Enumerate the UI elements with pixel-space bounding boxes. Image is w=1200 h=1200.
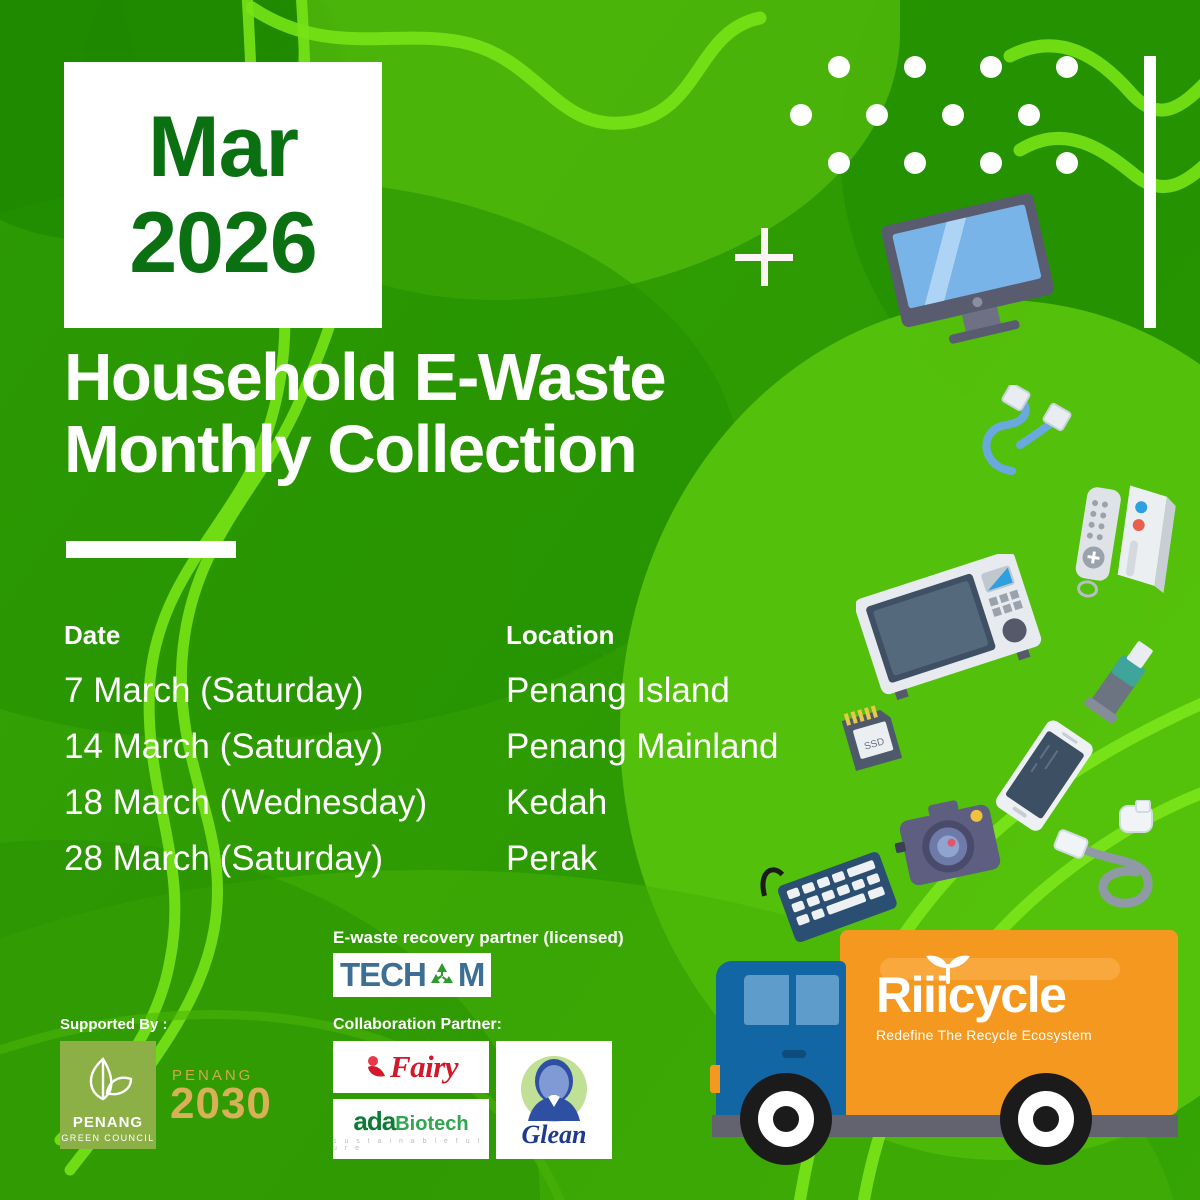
supported-by-caption: Supported By : — [60, 1016, 272, 1033]
techom-text-1: TECH — [340, 956, 426, 994]
cell-location: Kedah — [506, 783, 607, 823]
title-line-1: Household E-Waste — [64, 342, 904, 414]
usb-cable-icon — [958, 385, 1078, 485]
riiicycle-truck: Riiicycle Redefine The Recycle Ecosystem — [688, 925, 1188, 1195]
truck-window-left — [744, 975, 789, 1025]
table-row: 7 March (Saturday) Penang Island — [64, 671, 864, 711]
dot-grid — [782, 56, 1052, 176]
collaboration-block: Collaboration Partner: Fairy ada Biotech… — [333, 1016, 612, 1159]
title-line-2: Monthly Collection — [64, 414, 904, 486]
monitor-icon — [880, 190, 1060, 350]
fairy-text: Fairy — [390, 1049, 458, 1085]
cell-location: Penang Island — [506, 671, 730, 711]
penang-green-council-logo: PENANG GREEN COUNCIL — [60, 1041, 156, 1149]
table-row: 18 March (Wednesday) Kedah — [64, 783, 864, 823]
truck-branding: Riiicycle Redefine The Recycle Ecosystem — [876, 970, 1146, 1043]
recovery-partner-caption: E-waste recovery partner (licensed) — [333, 928, 624, 948]
ada-biotech-logo: ada Biotech s u s t a i n a b l e f u t … — [333, 1099, 489, 1159]
poster-canvas: SSD — [0, 0, 1200, 1200]
schedule-table: Date Location 7 March (Saturday) Penang … — [64, 620, 864, 895]
ada-tagline: s u s t a i n a b l e f u t u r e — [333, 1138, 489, 1152]
penang-2030-logo: PENANG 2030 — [170, 1067, 272, 1124]
p2030-line-2: 2030 — [170, 1084, 272, 1124]
camera-icon — [890, 790, 1010, 900]
page-title: Household E-Waste Monthly Collection — [64, 342, 904, 487]
table-row: 28 March (Saturday) Perak — [64, 839, 864, 879]
truck-rear-wheel — [1000, 1073, 1092, 1165]
cell-date: 14 March (Saturday) — [64, 727, 506, 767]
header-location: Location — [506, 620, 614, 651]
techom-text-2: M — [458, 956, 485, 994]
pgc-line-1: PENANG — [73, 1114, 143, 1131]
truck-headlight — [710, 1065, 720, 1093]
cell-location: Penang Mainland — [506, 727, 778, 767]
title-underline-rule — [66, 541, 236, 558]
fairy-logo: Fairy — [333, 1041, 489, 1093]
ada-text: ada — [353, 1106, 395, 1137]
game-console-icon — [1104, 480, 1184, 610]
leaf-icon — [73, 1041, 143, 1114]
glean-logo: Glean — [496, 1041, 612, 1159]
truck-front-wheel — [740, 1073, 832, 1165]
cell-date: 18 March (Wednesday) — [64, 783, 506, 823]
cell-location: Perak — [506, 839, 597, 879]
truck-brand-name: Riiicycle — [876, 970, 1146, 1020]
plus-icon — [735, 228, 793, 286]
header-date: Date — [64, 620, 506, 651]
glean-mascot-icon: Glean — [504, 1045, 604, 1155]
charger-cable-icon — [1042, 800, 1182, 920]
recovery-partner-block: E-waste recovery partner (licensed) TECH… — [333, 928, 624, 997]
table-header-row: Date Location — [64, 620, 864, 651]
vertical-bar-decoration — [1144, 56, 1156, 328]
collaboration-caption: Collaboration Partner: — [333, 1016, 612, 1034]
fairy-mascot-icon — [364, 1052, 390, 1082]
date-chip: Mar 2026 — [64, 62, 382, 328]
biotech-text: Biotech — [395, 1113, 468, 1136]
chip-month: Mar — [148, 105, 298, 189]
chip-year: 2026 — [129, 201, 316, 285]
cell-date: 7 March (Saturday) — [64, 671, 506, 711]
svg-text:Glean: Glean — [522, 1120, 587, 1149]
table-row: 14 March (Saturday) Penang Mainland — [64, 727, 864, 767]
truck-door-handle — [782, 1050, 806, 1058]
truck-tagline: Redefine The Recycle Ecosystem — [876, 1027, 1146, 1043]
truck-cargo-box: Riiicycle Redefine The Recycle Ecosystem — [840, 930, 1178, 1115]
microwave-icon — [856, 554, 1046, 704]
cell-date: 28 March (Saturday) — [64, 839, 506, 879]
supported-by-block: Supported By : PENANG GREEN COUNCIL PEN — [60, 1016, 272, 1149]
techom-logo: TECH M — [333, 953, 491, 997]
pgc-line-2: GREEN COUNCIL — [61, 1133, 154, 1143]
recycle-icon — [427, 961, 457, 989]
truck-window-right — [796, 975, 839, 1025]
